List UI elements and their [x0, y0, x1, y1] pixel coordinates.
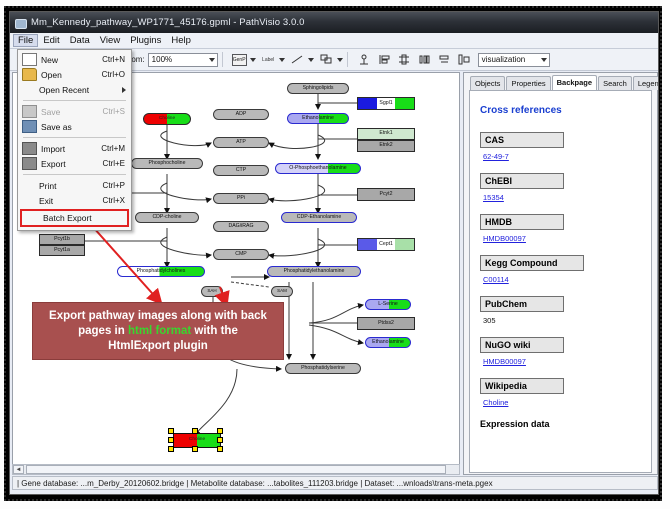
xref-value-nugo[interactable]: HMDB00097: [483, 357, 641, 366]
node-label: DAG/iRAG: [228, 224, 253, 229]
menu-accelerator: Ctrl+X: [103, 196, 131, 205]
callout-text: Export pathway images along with back pa…: [45, 309, 271, 354]
file-menu-exit[interactable]: Exit Ctrl+X: [18, 193, 131, 208]
pathway-node-ppi[interactable]: PPi: [213, 193, 269, 204]
align-center-icon: [398, 54, 411, 65]
tab-legend[interactable]: Legend: [633, 76, 659, 90]
tab-objects[interactable]: Objects: [470, 76, 505, 90]
menubar: File Edit Data View Plugins Help: [10, 33, 658, 49]
menu-accelerator: Ctrl+S: [103, 107, 131, 116]
pathway-node-sphingolipids[interactable]: Sphingolipids: [287, 83, 349, 94]
chevron-down-icon: [209, 58, 215, 62]
pathway-node-dag[interactable]: DAG/iRAG: [213, 221, 269, 232]
statusbar-text: | Gene database: ...m_Derby_20120602.bri…: [17, 479, 493, 488]
file-menu-popup[interactable]: New Ctrl+N Open Ctrl+O Open Recent Save …: [17, 49, 132, 231]
gene-box-etnk2[interactable]: Etnk2: [357, 140, 415, 152]
pathway-node-phosphocholine[interactable]: Phosphocholine: [131, 158, 203, 169]
window-titlebar: Mm_Kennedy_pathway_WP1771_45176.gpml - P…: [10, 12, 658, 33]
xref-header-pubchem: PubChem: [480, 296, 564, 312]
chevron-down-icon[interactable]: [337, 58, 343, 62]
node-label: ADP: [236, 112, 247, 117]
menu-label: Batch Export: [43, 213, 127, 223]
node-label: CDP-Ethanolamine: [297, 215, 341, 220]
no-icon: [22, 180, 35, 191]
distribute-icon: [418, 54, 431, 65]
open-folder-icon: [22, 68, 37, 81]
xref-value-kegg[interactable]: C00114: [483, 275, 641, 284]
chevron-down-icon[interactable]: [250, 58, 256, 62]
node-label: Phosphocholine: [149, 161, 186, 166]
window-title: Mm_Kennedy_pathway_WP1771_45176.gpml - P…: [31, 17, 305, 28]
gene-label: Ptdss2: [378, 321, 394, 326]
geneproduct-tool-button[interactable]: GenP: [232, 52, 247, 67]
align-left-icon: [378, 54, 391, 65]
file-menu-print[interactable]: Print Ctrl+P: [18, 178, 131, 193]
scroll-left-button[interactable]: ◄: [13, 465, 24, 474]
callout-line1: Export pathway images along with back: [49, 310, 267, 322]
xref-header-hmdb: HMDB: [480, 214, 564, 230]
gene-box-sgpl1[interactable]: Sgpl1: [357, 97, 415, 110]
chevron-down-icon: [541, 58, 547, 62]
label-icon: Label: [262, 57, 274, 63]
pathvisio-window: Mm_Kennedy_pathway_WP1771_45176.gpml - P…: [9, 11, 659, 495]
shape-icon: [320, 54, 333, 65]
node-label: Ethanolamine: [302, 116, 334, 121]
pathway-node-adp[interactable]: ADP: [213, 109, 269, 120]
gene-box-cept1[interactable]: Cept1: [357, 238, 415, 251]
menu-label: Save: [41, 107, 103, 117]
pathway-node-phosphatidylcholines[interactable]: Phosphatidylcholines: [117, 266, 205, 277]
menu-label: Exit: [39, 196, 103, 206]
chevron-down-icon[interactable]: [308, 58, 314, 62]
pathway-node-cdp-ethanolamine[interactable]: CDP-Ethanolamine: [281, 212, 357, 223]
menu-plugins[interactable]: Plugins: [125, 34, 166, 47]
node-label: Phosphatidylcholines: [137, 269, 186, 274]
file-menu-save-as[interactable]: Save as: [18, 119, 131, 134]
screenshot-root: Mm_Kennedy_pathway_WP1771_45176.gpml - P…: [0, 0, 670, 509]
distribute-button[interactable]: [417, 52, 432, 67]
backpage-content: Cross references CAS 62-49-7 ChEBI 15354…: [469, 90, 652, 473]
menu-view[interactable]: View: [95, 34, 125, 47]
menu-label: New: [41, 55, 102, 65]
canvas-hscrollbar[interactable]: ◄: [12, 464, 460, 475]
node-label: O-Phosphoethanolamine: [289, 166, 346, 171]
xref-value-hmdb[interactable]: HMDB00097: [483, 234, 641, 243]
gene-label: Sgpl1: [379, 101, 392, 106]
file-menu-open[interactable]: Open Ctrl+O: [18, 67, 131, 82]
menu-file[interactable]: File: [13, 34, 38, 47]
scroll-thumb[interactable]: [26, 465, 446, 474]
gene-label: Cept1: [379, 242, 393, 247]
pathvisio-icon: [14, 17, 26, 29]
statusbar: | Gene database: ...m_Derby_20120602.bri…: [12, 476, 658, 490]
menu-accelerator: Ctrl+O: [102, 70, 131, 79]
menu-label: Import: [41, 144, 101, 154]
menu-accelerator: Ctrl+P: [103, 181, 131, 190]
align-center-button[interactable]: [397, 52, 412, 67]
menu-label: Save as: [41, 122, 125, 132]
file-menu-open-recent[interactable]: Open Recent: [18, 82, 131, 97]
menu-label: Open: [41, 70, 102, 80]
menu-help[interactable]: Help: [166, 34, 196, 47]
export-icon: [22, 157, 37, 170]
callout-highlight: html format: [128, 325, 191, 337]
menu-label: Open Recent: [39, 85, 131, 95]
pathway-node-cmp[interactable]: CMP: [213, 249, 269, 260]
toolbar-separator: [222, 52, 223, 67]
group-icon: [458, 54, 471, 65]
chevron-down-icon[interactable]: [279, 58, 285, 62]
pathway-node-phosphatidylserine[interactable]: Phosphatidylserine: [285, 363, 361, 374]
pathway-node-sah[interactable]: SAH: [201, 286, 223, 297]
visualization-value: visualization: [482, 55, 526, 64]
chevron-right-icon: [122, 87, 126, 93]
gene-box-pcyt1b[interactable]: Pcyt1b: [39, 234, 85, 245]
menu-separator: [23, 137, 126, 138]
zoom-value: 100%: [152, 55, 172, 64]
geneproduct-icon: GenP: [232, 54, 247, 66]
file-menu-export[interactable]: Export Ctrl+E: [18, 156, 131, 171]
gene-label: Etnk2: [379, 143, 392, 148]
selection-handles[interactable]: [168, 428, 224, 451]
label-tool-button[interactable]: Label: [261, 52, 276, 67]
callout-line2-pre: pages in: [78, 325, 128, 337]
gene-label: Pcyt1a: [54, 248, 70, 253]
menu-accelerator: Ctrl+N: [102, 55, 131, 64]
node-label: CDP-choline: [152, 215, 181, 220]
pathway-node-ctp[interactable]: CTP: [213, 165, 269, 176]
cross-references-title: Cross references: [480, 105, 641, 116]
align-left-button[interactable]: [377, 52, 392, 67]
menu-separator: [23, 100, 126, 101]
node-label: Ethanolamine: [372, 340, 404, 345]
anchor-icon: [358, 54, 371, 65]
node-label: PPi: [237, 196, 245, 201]
pathway-node-l-serine[interactable]: L-Serine: [365, 299, 411, 310]
menu-edit[interactable]: Edit: [38, 34, 64, 47]
gene-label: Etnk1: [379, 131, 392, 136]
line-icon: [291, 54, 304, 65]
annotation-callout: Export pathway images along with back pa…: [32, 302, 284, 360]
xref-header-cas: CAS: [480, 132, 564, 148]
xref-value-chebi[interactable]: 15354: [483, 193, 641, 202]
no-icon: [22, 195, 35, 206]
menu-accelerator: Ctrl+E: [103, 159, 131, 168]
menu-accelerator: Ctrl+M: [101, 144, 131, 153]
file-menu-new[interactable]: New Ctrl+N: [18, 52, 131, 67]
pathway-node-cdp-choline[interactable]: CDP-choline: [135, 212, 199, 223]
expression-data-title: Expression data: [480, 419, 641, 429]
node-label: ATP: [236, 140, 246, 145]
file-menu-batch-export[interactable]: Batch Export: [20, 209, 129, 227]
node-label: Choline: [159, 117, 175, 122]
node-label: CMP: [235, 252, 247, 257]
node-label: Phosphatidylserine: [301, 366, 345, 371]
pathway-node-o-phosphoethanolamine[interactable]: O-Phosphoethanolamine: [275, 163, 361, 174]
sidebar-tabs: Objects Properties Backpage Search Legen…: [464, 73, 657, 90]
xref-value-cas[interactable]: 62-49-7: [483, 152, 641, 161]
node-label: Phosphatidylethanolamine: [284, 269, 345, 274]
file-menu-import[interactable]: Import Ctrl+M: [18, 141, 131, 156]
node-label: SAH: [207, 289, 216, 294]
stack-icon: [438, 54, 451, 65]
import-icon: [22, 142, 37, 155]
zoom-combo[interactable]: 100%: [148, 53, 218, 67]
gene-box-etnk1[interactable]: Etnk1: [357, 128, 415, 140]
callout-line3: HtmlExport plugin: [108, 340, 208, 352]
menu-label: Print: [39, 181, 103, 191]
pathway-node-phosphatidylethanolamine[interactable]: Phosphatidylethanolamine: [267, 266, 361, 277]
callout-line2-post: with the: [191, 325, 238, 337]
xref-value-wikipedia[interactable]: Choline: [483, 398, 641, 407]
xref-header-kegg: Kegg Compound: [480, 255, 584, 271]
save-icon: [22, 105, 37, 118]
pathway-node-atp[interactable]: ATP: [213, 137, 269, 148]
node-label: Sphingolipids: [303, 86, 334, 91]
tab-properties[interactable]: Properties: [506, 76, 550, 90]
save-as-icon: [22, 120, 37, 133]
node-label: SAM: [277, 289, 287, 294]
anchor-tool-button[interactable]: [357, 52, 372, 67]
no-icon: [26, 213, 39, 224]
node-label: L-Serine: [378, 302, 398, 307]
node-label: CTP: [236, 168, 246, 173]
gene-box-pcyt2[interactable]: Pcyt2: [357, 188, 415, 201]
new-document-icon: [22, 53, 37, 66]
xref-header-wikipedia: Wikipedia: [480, 378, 564, 394]
shape-tool-button[interactable]: [319, 52, 334, 67]
stack-button[interactable]: [437, 52, 452, 67]
xref-value-pubchem: 305: [483, 316, 641, 325]
line-tool-button[interactable]: [290, 52, 305, 67]
pathway-node-sam[interactable]: SAM: [271, 286, 293, 297]
group-button[interactable]: [457, 52, 472, 67]
gene-box-pcyt1a[interactable]: Pcyt1a: [39, 245, 85, 256]
toolbar-separator: [347, 52, 348, 67]
pathway-node-ethanolamine-2[interactable]: Ethanolamine: [365, 337, 411, 348]
xref-header-chebi: ChEBI: [480, 173, 564, 189]
pathway-node-choline-top[interactable]: Choline: [143, 113, 191, 125]
menu-label: Export: [41, 159, 103, 169]
tab-search[interactable]: Search: [598, 76, 632, 90]
xref-header-nugo: NuGO wiki: [480, 337, 564, 353]
gene-label: Pcyt2: [380, 192, 393, 197]
gene-box-ptdss2[interactable]: Ptdss2: [357, 317, 415, 330]
menu-separator: [23, 174, 126, 175]
sidebar-panel: Objects Properties Backpage Search Legen…: [463, 72, 658, 475]
visualization-combo[interactable]: visualization: [478, 53, 550, 67]
no-icon: [22, 84, 35, 95]
menu-data[interactable]: Data: [65, 34, 95, 47]
pathway-node-ethanolamine[interactable]: Ethanolamine: [287, 113, 349, 124]
tab-backpage[interactable]: Backpage: [552, 75, 597, 90]
gene-label: Pcyt1b: [54, 237, 70, 242]
file-menu-save: Save Ctrl+S: [18, 104, 131, 119]
